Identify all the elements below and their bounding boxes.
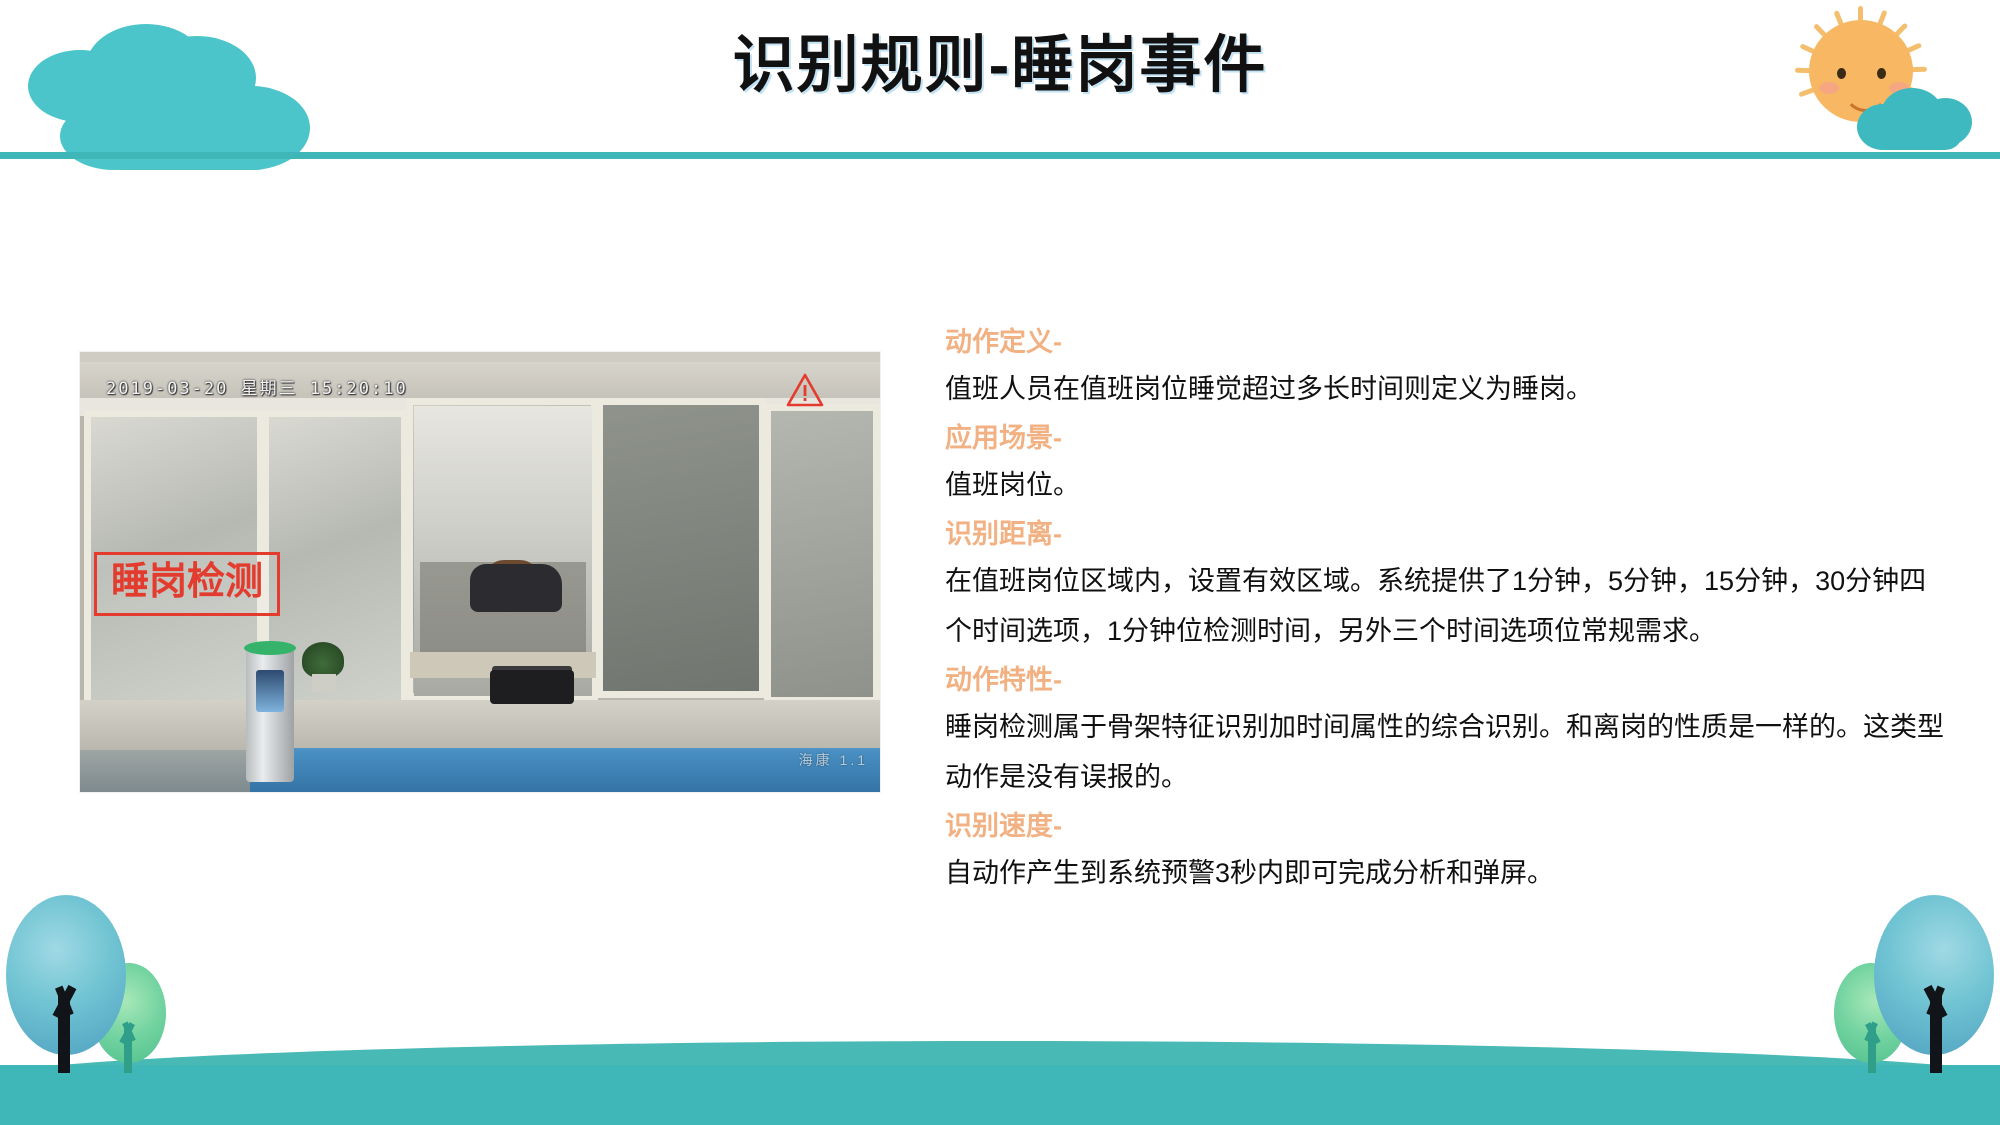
section-heading: 识别距离-: [945, 512, 1945, 556]
tree-icon: [1874, 913, 1994, 1073]
header-divider: [0, 152, 2000, 159]
cloud-icon: [1857, 88, 1972, 150]
section-body: 自动作产生到系统预警3秒内即可完成分析和弹屏。: [945, 848, 1945, 898]
section-recognition-speed: 识别速度- 自动作产生到系统预警3秒内即可完成分析和弹屏。: [945, 804, 1945, 898]
section-heading: 动作特性-: [945, 658, 1945, 702]
section-heading: 动作定义-: [945, 320, 1945, 364]
page-title: 识别规则-睡岗事件: [0, 24, 2000, 108]
detection-label: 睡岗检测: [94, 552, 280, 616]
photo-timestamp: 2019-03-20 星期三 15:20:10: [106, 374, 408, 399]
section-application-scenario: 应用场景- 值班岗位。: [945, 416, 1945, 510]
section-body: 值班岗位。: [945, 460, 1945, 510]
section-body: 在值班岗位区域内，设置有效区域。系统提供了1分钟，5分钟，15分钟，30分钟四个…: [945, 556, 1945, 656]
section-heading: 识别速度-: [945, 804, 1945, 848]
surveillance-photo: 2019-03-20 星期三 15:20:10 睡岗检测 海康 1.1: [80, 352, 880, 792]
photo-watermark: 海康 1.1: [799, 750, 868, 770]
section-heading: 应用场景-: [945, 416, 1945, 460]
slide-header: 识别规则-睡岗事件: [0, 0, 2000, 158]
warning-triangle-icon: [786, 372, 824, 408]
ground-band: [0, 1065, 2000, 1125]
sun-icon: [1753, 2, 1968, 152]
slide-canvas: 识别规则-睡岗事件: [0, 0, 2000, 1125]
content-column: 动作定义- 值班人员在值班岗位睡觉超过多长时间则定义为睡岗。 应用场景- 值班岗…: [945, 320, 1945, 900]
section-action-characteristics: 动作特性- 睡岗检测属于骨架特征识别加时间属性的综合识别。和离岗的性质是一样的。…: [945, 658, 1945, 802]
tree-icon: [6, 913, 126, 1073]
section-recognition-distance: 识别距离- 在值班岗位区域内，设置有效区域。系统提供了1分钟，5分钟，15分钟，…: [945, 512, 1945, 656]
section-action-definition: 动作定义- 值班人员在值班岗位睡觉超过多长时间则定义为睡岗。: [945, 320, 1945, 414]
section-body: 值班人员在值班岗位睡觉超过多长时间则定义为睡岗。: [945, 364, 1945, 414]
section-body: 睡岗检测属于骨架特征识别加时间属性的综合识别。和离岗的性质是一样的。这类型动作是…: [945, 702, 1945, 802]
